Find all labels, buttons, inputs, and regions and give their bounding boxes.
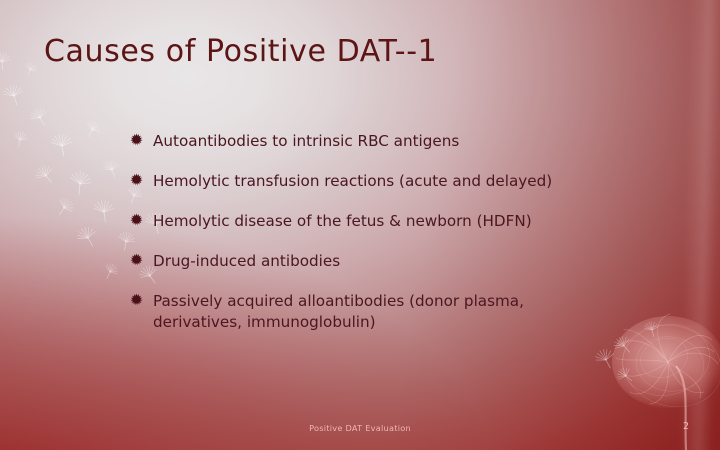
starburst-bullet-icon	[130, 251, 153, 266]
list-item: Hemolytic transfusion reactions (acute a…	[130, 171, 650, 192]
footer-deck-title: Positive DAT Evaluation	[0, 423, 720, 433]
slide-number: 2	[683, 421, 689, 432]
list-item: Autoantibodies to intrinsic RBC antigens	[130, 131, 650, 152]
list-item: Hemolytic disease of the fetus & newborn…	[130, 211, 650, 232]
slide-title: Causes of Positive DAT--1	[44, 34, 437, 69]
starburst-bullet-icon	[130, 171, 153, 186]
list-item-label: Passively acquired alloantibodies (donor…	[153, 291, 650, 333]
presentation-slide: Causes of Positive DAT--1 Autoantibodies…	[0, 0, 720, 450]
list-item: Drug-induced antibodies	[130, 251, 650, 272]
bullet-list: Autoantibodies to intrinsic RBC antigens…	[130, 131, 650, 352]
starburst-bullet-icon	[130, 291, 153, 306]
list-item-label: Hemolytic transfusion reactions (acute a…	[153, 171, 650, 192]
starburst-bullet-icon	[130, 131, 153, 146]
list-item: Passively acquired alloantibodies (donor…	[130, 291, 650, 333]
list-item-label: Drug-induced antibodies	[153, 251, 650, 272]
starburst-bullet-icon	[130, 211, 153, 226]
list-item-label: Hemolytic disease of the fetus & newborn…	[153, 211, 650, 232]
list-item-label: Autoantibodies to intrinsic RBC antigens	[153, 131, 650, 152]
